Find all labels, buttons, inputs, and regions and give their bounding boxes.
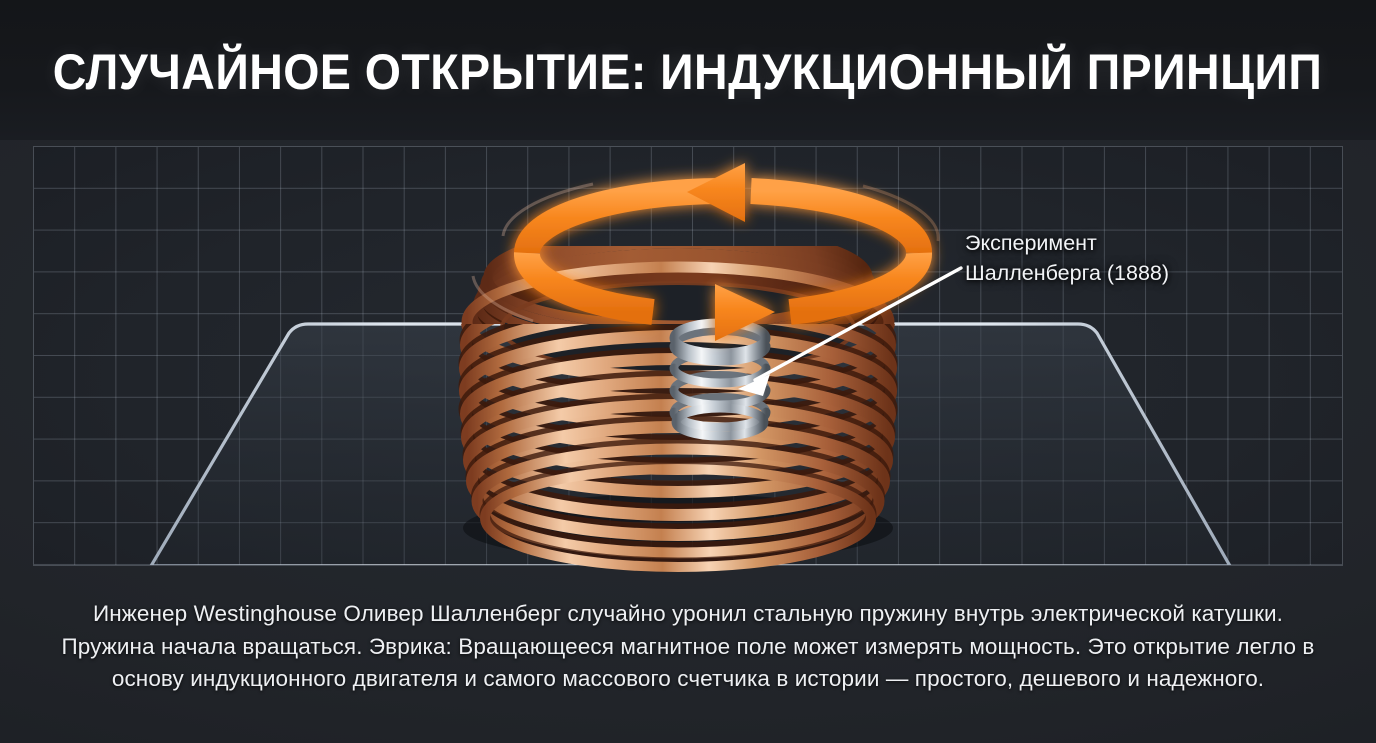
page-title: СЛУЧАЙНОЕ ОТКРЫТИЕ: ИНДУКЦИОННЫЙ ПРИНЦИП bbox=[53, 43, 1323, 101]
diagram-panel bbox=[33, 146, 1343, 566]
caption-text: Инженер Westinghouse Оливер Шалленберг с… bbox=[48, 598, 1328, 696]
callout-label: Эксперимент Шалленберга (1888) bbox=[965, 228, 1255, 288]
platform-shape bbox=[34, 147, 1343, 566]
infographic-root: СЛУЧАЙНОЕ ОТКРЫТИЕ: ИНДУКЦИОННЫЙ ПРИНЦИП bbox=[0, 0, 1376, 743]
title-bar: СЛУЧАЙНОЕ ОТКРЫТИЕ: ИНДУКЦИОННЫЙ ПРИНЦИП bbox=[0, 0, 1376, 140]
platform-outline bbox=[151, 324, 1230, 566]
